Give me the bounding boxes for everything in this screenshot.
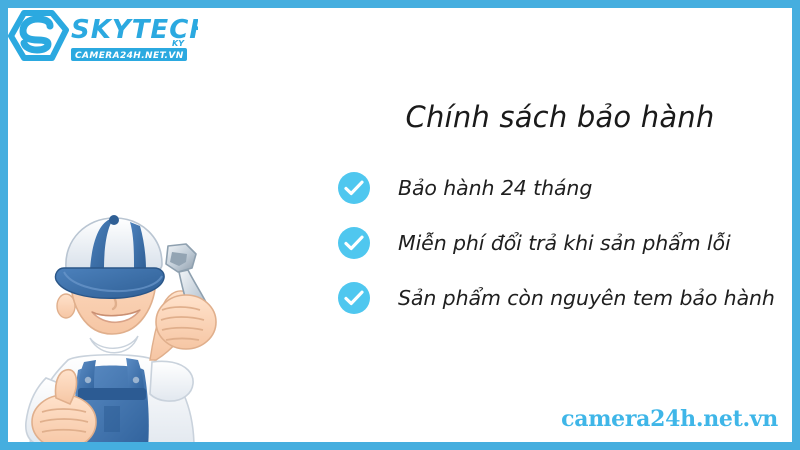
handyman-mascot-illustration — [16, 210, 256, 448]
page-title: Chính sách bảo hành — [330, 100, 790, 134]
list-item: Bảo hành 24 tháng — [338, 168, 790, 208]
check-circle-icon — [338, 282, 370, 314]
list-item-label: Miễn phí đổi trả khi sản phẩm lỗi — [398, 231, 731, 255]
border-top — [0, 0, 800, 8]
mascot-cap — [55, 215, 164, 298]
mascot-fist — [156, 295, 216, 349]
hexagon-s-icon — [11, 13, 66, 58]
list-item-label: Bảo hành 24 tháng — [398, 176, 592, 200]
mascot-collar — [90, 336, 138, 353]
feature-list: Bảo hành 24 tháng Miễn phí đổi trả khi s… — [338, 168, 790, 318]
skytech-logo[interactable]: SKYTECH KY CAMERA24H.NET.VN — [8, 8, 198, 64]
list-item-label: Sản phẩm còn nguyên tem bảo hành — [398, 286, 775, 310]
logo-superscript: KY — [172, 39, 185, 48]
list-item: Sản phẩm còn nguyên tem bảo hành — [338, 278, 790, 318]
list-item: Miễn phí đổi trả khi sản phẩm lỗi — [338, 223, 790, 263]
border-bottom — [0, 442, 800, 450]
site-watermark: camera24h.net.vn — [561, 406, 778, 432]
border-right — [792, 0, 800, 450]
border-left — [0, 0, 8, 450]
warranty-policy-banner: SKYTECH KY CAMERA24H.NET.VN Chính sách b… — [0, 0, 800, 450]
check-circle-icon — [338, 227, 370, 259]
check-circle-icon — [338, 172, 370, 204]
logo-subbanner-text: CAMERA24H.NET.VN — [75, 51, 184, 61]
